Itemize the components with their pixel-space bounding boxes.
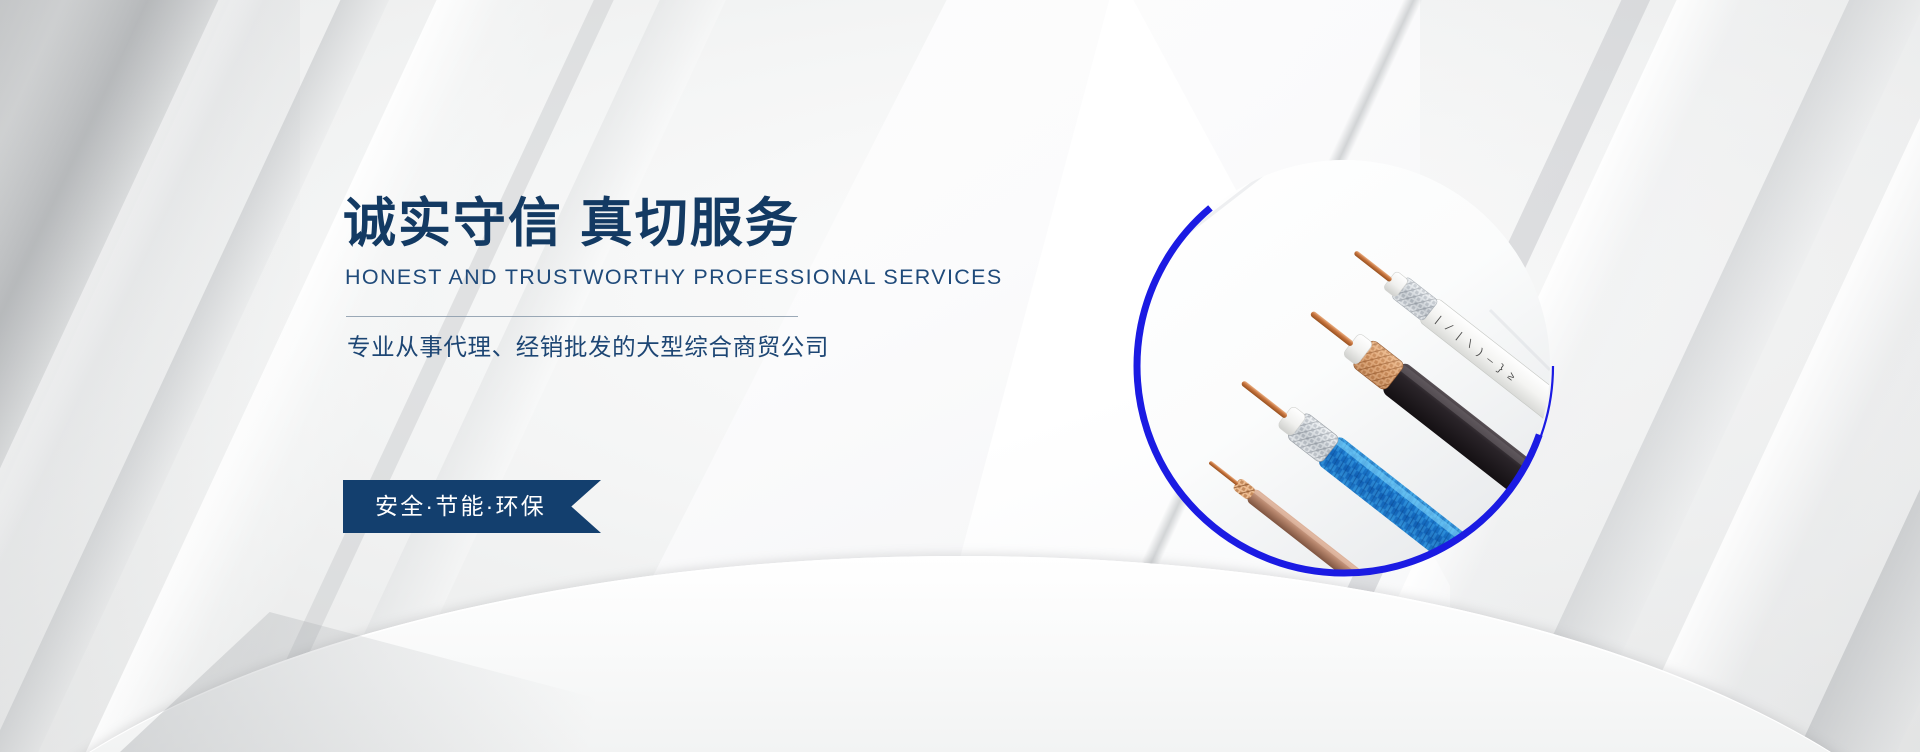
copy-divider [346,316,798,317]
hero-circle-media: | / | \ ) — } ≥ [1128,150,1560,582]
page-description: 专业从事代理、经销批发的大型综合商贸公司 [347,333,863,361]
hero-copy-block: 诚实守信 真切服务 HONEST AND TRUSTWORTHY PROFESS… [343,196,863,361]
feature-ribbon-label: 安全·节能·环保 [375,495,546,518]
hero-banner: 诚实守信 真切服务 HONEST AND TRUSTWORTHY PROFESS… [0,0,1920,752]
circle-accent-ring-thick [1137,159,1551,573]
page-subtitle-english: HONEST AND TRUSTWORTHY PROFESSIONAL SERV… [345,266,863,290]
page-title: 诚实守信 真切服务 [343,196,863,252]
circle-accent-ring [1128,150,1560,582]
feature-ribbon-tag: 安全·节能·环保 [343,480,601,533]
